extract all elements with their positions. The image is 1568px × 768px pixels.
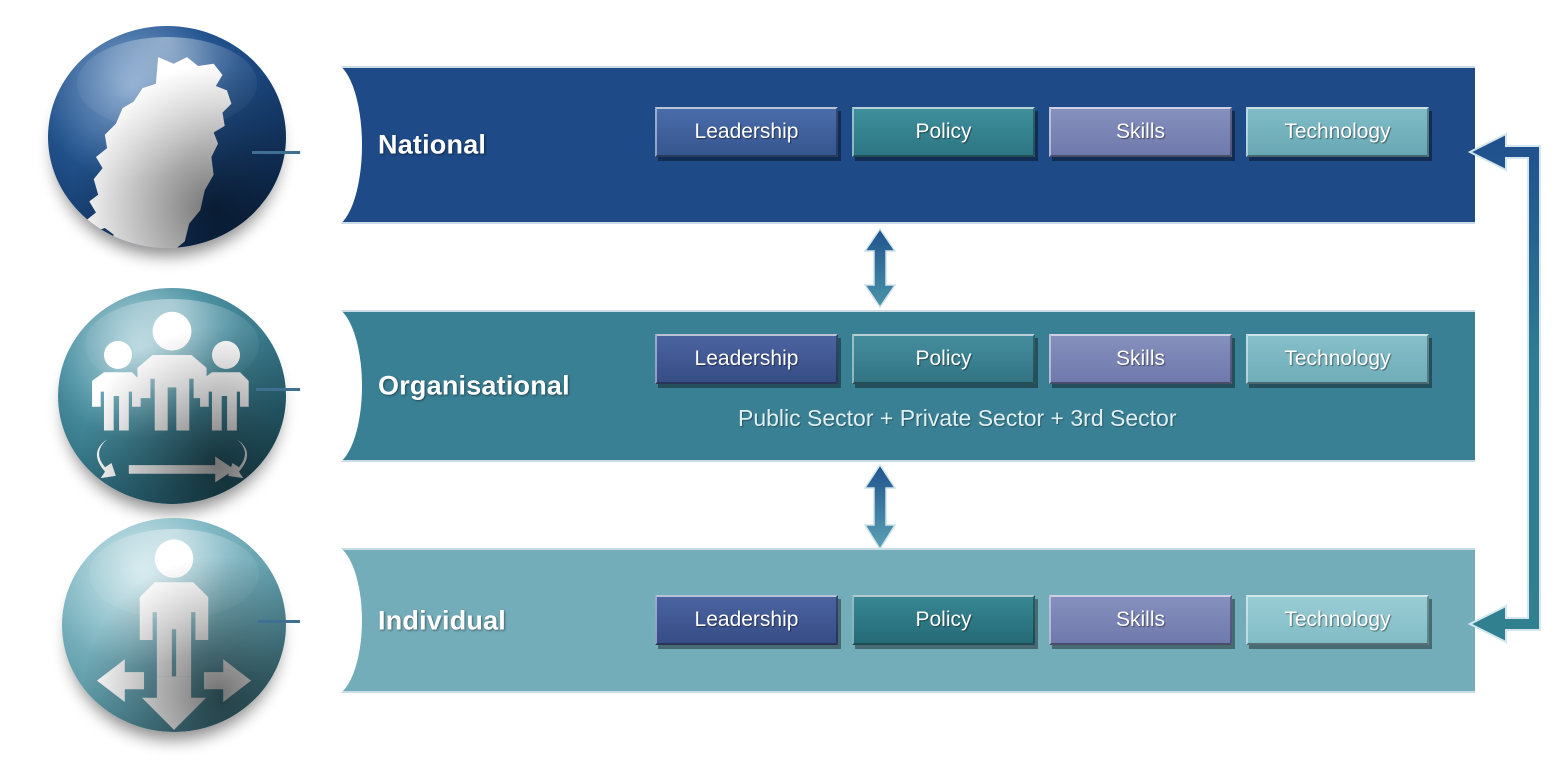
feedback-loop-bracket xyxy=(1462,118,1568,658)
double-arrow-organisational-individual xyxy=(854,464,906,550)
single-person-arrows-icon xyxy=(62,518,286,732)
sphere-shading xyxy=(62,518,286,732)
pill-individual-technology[interactable]: Technology xyxy=(1246,595,1429,645)
pill-row-individual: Leadership Policy Skills Technology xyxy=(655,595,1429,645)
band-left-notch xyxy=(300,306,362,466)
pill-individual-policy[interactable]: Policy xyxy=(852,595,1035,645)
pill-label: Policy xyxy=(915,120,971,144)
band-label-national: National xyxy=(378,130,486,161)
pill-label: Policy xyxy=(915,608,971,632)
pill-label: Leadership xyxy=(695,347,799,371)
double-arrow-national-organisational xyxy=(854,228,906,308)
pill-label: Leadership xyxy=(695,120,799,144)
band-left-notch xyxy=(300,62,362,228)
band-label-individual: Individual xyxy=(378,605,506,636)
pill-organisational-policy[interactable]: Policy xyxy=(852,334,1035,384)
pill-label: Policy xyxy=(915,347,971,371)
pill-row-national: Leadership Policy Skills Technology xyxy=(655,107,1429,157)
band-left-notch xyxy=(300,544,362,697)
pill-label: Skills xyxy=(1116,120,1165,144)
pill-row-organisational: Leadership Policy Skills Technology xyxy=(655,334,1429,384)
group-of-people-icon xyxy=(58,288,286,504)
pill-individual-leadership[interactable]: Leadership xyxy=(655,595,838,645)
pill-label: Skills xyxy=(1116,347,1165,371)
sphere-shading xyxy=(58,288,286,504)
pill-individual-skills[interactable]: Skills xyxy=(1049,595,1232,645)
band-label-organisational: Organisational xyxy=(378,371,570,402)
feedback-arrow-icon xyxy=(1462,118,1568,658)
pill-label: Technology xyxy=(1284,608,1390,632)
pill-national-policy[interactable]: Policy xyxy=(852,107,1035,157)
sector-note: Public Sector + Private Sector + 3rd Sec… xyxy=(738,405,1176,432)
band-organisational: Organisational Leadership Policy Skills … xyxy=(330,310,1475,462)
band-national: National Leadership Policy Skills Techno… xyxy=(330,66,1475,224)
ireland-map-icon xyxy=(48,26,286,248)
pill-label: Technology xyxy=(1284,347,1390,371)
pill-organisational-skills[interactable]: Skills xyxy=(1049,334,1232,384)
pill-label: Leadership xyxy=(695,608,799,632)
pill-organisational-technology[interactable]: Technology xyxy=(1246,334,1429,384)
band-individual: Individual Leadership Policy Skills Tech… xyxy=(330,548,1475,693)
pill-label: Technology xyxy=(1284,120,1390,144)
pill-national-technology[interactable]: Technology xyxy=(1246,107,1429,157)
pill-organisational-leadership[interactable]: Leadership xyxy=(655,334,838,384)
sphere-shading xyxy=(48,26,286,248)
double-arrow-vertical-icon xyxy=(854,228,906,308)
diagram-canvas: National Leadership Policy Skills Techno… xyxy=(0,0,1568,768)
pill-national-leadership[interactable]: Leadership xyxy=(655,107,838,157)
pill-label: Skills xyxy=(1116,608,1165,632)
double-arrow-vertical-icon xyxy=(854,464,906,550)
pill-national-skills[interactable]: Skills xyxy=(1049,107,1232,157)
